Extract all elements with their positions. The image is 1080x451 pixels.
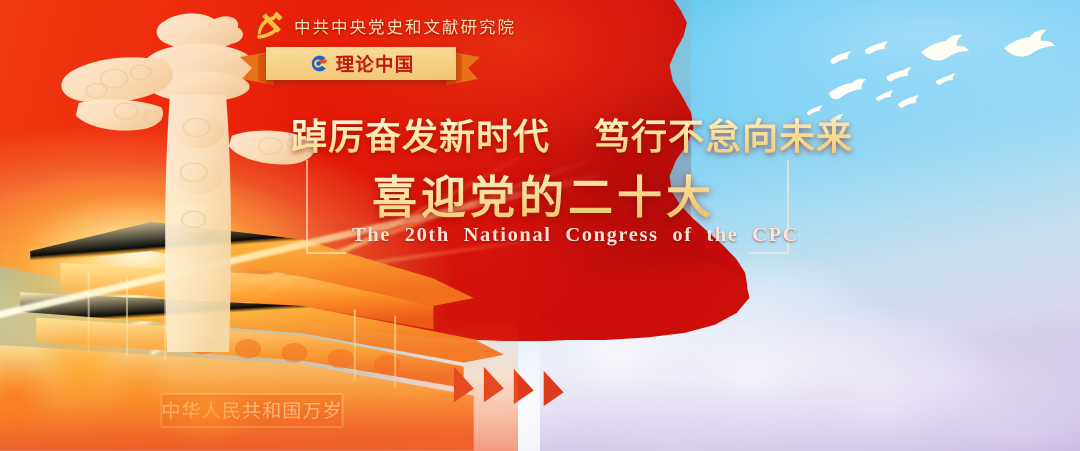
headline-part1: 踔厉奋发新时代 bbox=[291, 116, 550, 157]
english-word: 20th bbox=[405, 224, 450, 247]
institute-header: 中共中央党史和文献研究院 bbox=[252, 9, 516, 43]
english-word: National bbox=[464, 224, 552, 247]
ribbon-label: 理论中国 bbox=[336, 51, 415, 77]
celebration-banner: 中华人民共和国万岁 bbox=[0, 0, 1080, 451]
ribbon-plate-shadow bbox=[266, 80, 456, 86]
headline: 踔厉奋发新时代 笃行不怠向未来 bbox=[291, 108, 853, 160]
english-word: of bbox=[672, 224, 692, 247]
english-word: CPC bbox=[752, 224, 799, 247]
ribbon-plate[interactable]: 理论中国 bbox=[266, 47, 456, 80]
headline-part2: 笃行不怠向未来 bbox=[594, 116, 853, 157]
english-word: The bbox=[352, 224, 391, 247]
english-subtitle: The 20th National Congress of the CPC bbox=[352, 224, 806, 247]
lilunzhongguo-logo-icon bbox=[308, 53, 329, 74]
page-title: 喜迎党的二十大 bbox=[372, 161, 715, 226]
english-word: Congress bbox=[565, 224, 658, 247]
english-word: the bbox=[706, 224, 738, 247]
hammer-and-sickle-icon bbox=[252, 9, 286, 43]
institute-name: 中共中央党史和文献研究院 bbox=[294, 14, 516, 38]
